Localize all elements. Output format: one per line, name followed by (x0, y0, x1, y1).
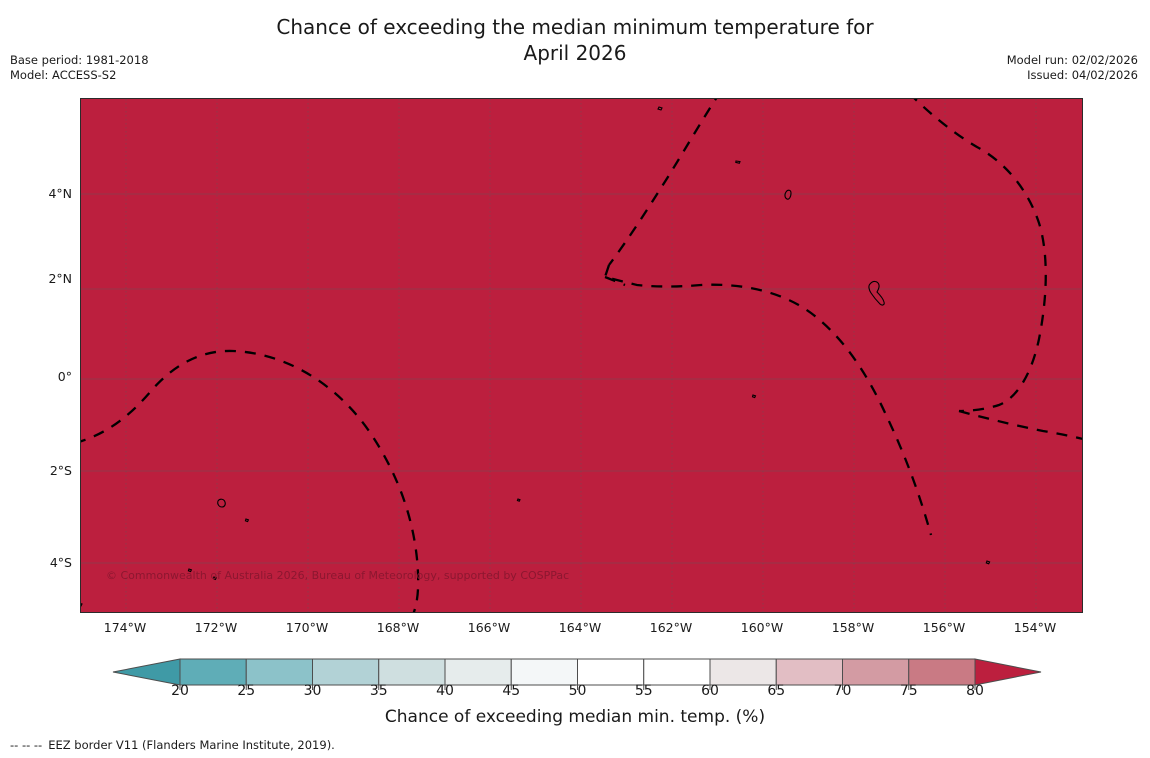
base-period-text: Base period: 1981-2018 (10, 53, 149, 68)
colorbar-bands (113, 659, 1041, 685)
colorbar-tick-label: 35 (349, 683, 409, 699)
eez-dash-sample-icon: -- -- -- (10, 738, 42, 752)
colorbar-tick-label: 45 (481, 683, 541, 699)
y-tick-label: 0° (2, 369, 72, 384)
colorbar-axis-label: Chance of exceeding median min. temp. (%… (0, 707, 1150, 727)
page-title: Chance of exceeding the median minimum t… (0, 14, 1150, 66)
footer-legend-text: EEZ border V11 (Flanders Marine Institut… (48, 738, 335, 752)
colorbar-tick-label: 50 (548, 683, 608, 699)
x-tick-label: 162°W (631, 620, 711, 635)
map-background (81, 99, 1082, 612)
x-tick-label: 154°W (995, 620, 1075, 635)
colorbar-band (445, 659, 511, 685)
colorbar-band (379, 659, 445, 685)
colorbar-band (776, 659, 842, 685)
colorbar-tick-label: 75 (879, 683, 939, 699)
colorbar-band (710, 659, 776, 685)
colorbar-tick-label: 65 (746, 683, 806, 699)
colorbar-band (313, 659, 379, 685)
x-tick-label: 156°W (904, 620, 984, 635)
colorbar-tick-label: 70 (813, 683, 873, 699)
colorbar-under-arrow (113, 659, 180, 685)
colorbar-band (843, 659, 909, 685)
metadata-left: Base period: 1981-2018 Model: ACCESS-S2 (10, 53, 149, 83)
colorbar-tick-label: 60 (680, 683, 740, 699)
issued-text: Issued: 04/02/2026 (1007, 68, 1138, 83)
x-tick-label: 170°W (267, 620, 347, 635)
map-canvas (81, 99, 1082, 612)
x-tick-label: 158°W (813, 620, 893, 635)
y-tick-label: 2°S (2, 463, 72, 478)
x-tick-label: 168°W (358, 620, 438, 635)
x-tick-label: 172°W (176, 620, 256, 635)
colorbar-tick-label: 30 (283, 683, 343, 699)
y-tick-label: 4°N (2, 186, 72, 201)
colorbar-band (180, 659, 246, 685)
colorbar-band (909, 659, 975, 685)
x-tick-label: 160°W (722, 620, 802, 635)
colorbar-tick-label: 55 (614, 683, 674, 699)
colorbar-band (511, 659, 577, 685)
y-tick-label: 2°N (2, 271, 72, 286)
colorbar-band (644, 659, 710, 685)
colorbar-over-arrow (975, 659, 1041, 685)
y-tick-label: 4°S (2, 555, 72, 570)
colorbar-tick-label: 20 (150, 683, 210, 699)
colorbar-band (246, 659, 312, 685)
x-tick-label: 164°W (540, 620, 620, 635)
colorbar-tick-label: 25 (216, 683, 276, 699)
model-text: Model: ACCESS-S2 (10, 68, 149, 83)
colorbar-band (578, 659, 644, 685)
map-plot-area[interactable]: © Commonwealth of Australia 2026, Bureau… (80, 98, 1083, 613)
model-run-text: Model run: 02/02/2026 (1007, 53, 1138, 68)
colorbar-tick-label: 40 (415, 683, 475, 699)
x-tick-label: 166°W (449, 620, 529, 635)
footer-legend: -- -- -- EEZ border V11 (Flanders Marine… (10, 738, 335, 752)
x-tick-label: 174°W (85, 620, 165, 635)
colorbar-tick-label: 80 (945, 683, 1005, 699)
metadata-right: Model run: 02/02/2026 Issued: 04/02/2026 (1007, 53, 1138, 83)
